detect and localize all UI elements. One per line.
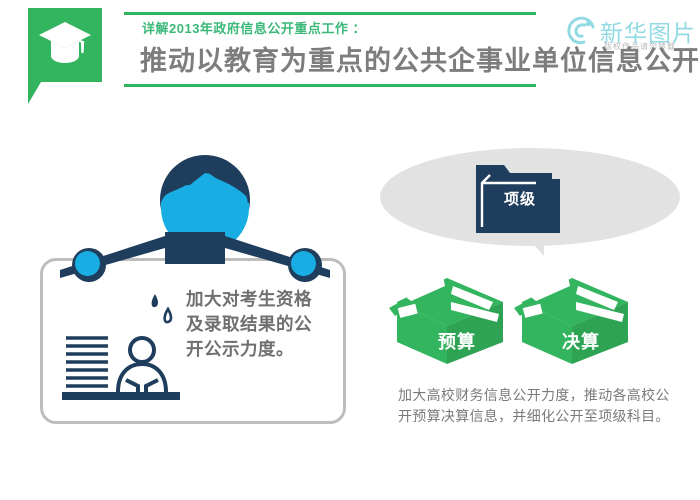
folder-label: 项级: [489, 188, 551, 209]
header-badge-tail: [28, 82, 41, 104]
connector-knob-left: [72, 248, 106, 282]
header-rule-bottom: [124, 84, 536, 87]
sweat-drops-icon: [144, 292, 184, 330]
person-reading-at-desk-icon: [62, 322, 182, 404]
header-rule-top: [124, 12, 536, 15]
connector-knob-right: [288, 248, 322, 282]
xinhua-swirl-logo: [564, 14, 598, 48]
graduation-cap-icon: [28, 8, 102, 82]
left-card-text: 加大对考生资格及录取结果的公开公示力度。: [186, 287, 316, 362]
box-label-budget: 预算: [438, 328, 476, 354]
infographic-canvas: 详解2013年政府信息公开重点工作 ： 推动以教育为重点的公共企事业单位信息公开…: [0, 0, 700, 500]
header-subtitle: 详解2013年政府信息公开重点工作 ：: [142, 18, 366, 37]
watermark-subtext: 版权作品请勿转载: [604, 41, 676, 52]
watermark: 新华图片 版权作品请勿转载: [560, 10, 700, 58]
box-label-final: 决算: [562, 328, 600, 354]
right-panel-description: 加大高校财务信息公开力度，推动各高校公开预算决算信息，并细化公开至项级科目。: [398, 385, 673, 427]
